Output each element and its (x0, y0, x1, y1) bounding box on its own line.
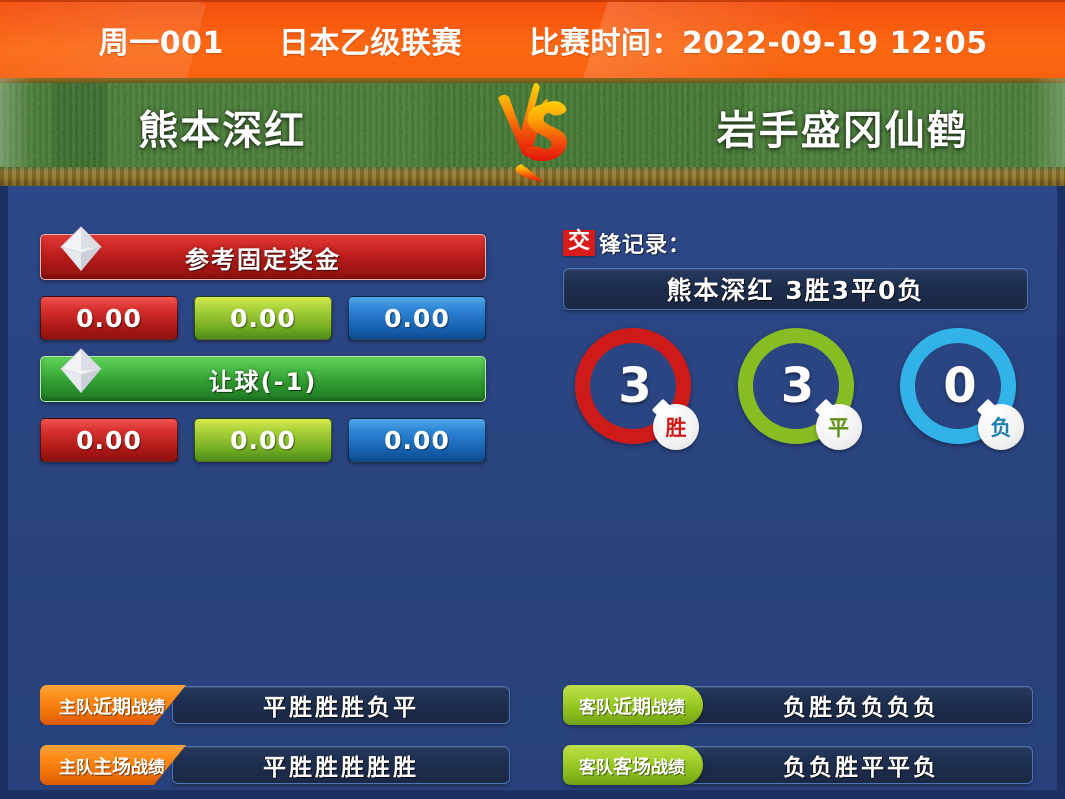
away-recent-tag-a: 客队 (579, 693, 613, 718)
handicap-odd-win[interactable]: 0.00 (40, 418, 178, 462)
home-home-tag-c: 战绩 (131, 753, 165, 778)
h2h-panel: 交 锋记录： 熊本深红 3胜3平0负 3 胜 3 (563, 228, 1028, 444)
odds-panel: 参考固定奖金 0.00 0.00 0.00 让球(-1) (40, 234, 486, 462)
h2h-summary: 熊本深红 3胜3平0负 (563, 268, 1028, 310)
pitch-banner: 熊本深红 岩手盛冈仙鹤 (0, 78, 1065, 186)
away-away-tag-c: 战绩 (651, 753, 685, 778)
fixed-prize-header: 参考固定奖金 (40, 234, 486, 280)
diamond-gem-icon (55, 223, 107, 275)
handicap-odds-row: 0.00 0.00 0.00 (40, 418, 486, 462)
away-away-form-text: 负负胜平平负 (783, 748, 939, 782)
handicap-label: 让球(-1) (209, 362, 318, 397)
league-name: 日本乙级联赛 (245, 18, 495, 62)
away-recent-tag-c: 战绩 (651, 693, 685, 718)
teams-row: 熊本深红 岩手盛冈仙鹤 (0, 78, 1065, 186)
home-recent-form-value: 平胜胜胜负平 (172, 686, 510, 724)
away-away-form-row: 客队 客场 战绩 负负胜平平负 (563, 744, 1033, 786)
kickoff-time: 比赛时间：2022-09-19 12:05 (529, 18, 987, 62)
handicap-odd-lose[interactable]: 0.00 (348, 418, 486, 462)
away-away-form-value: 负负胜平平负 (689, 746, 1033, 784)
h2h-ring-win: 3 胜 (575, 328, 691, 444)
h2h-title-rest: 锋记录： (599, 227, 691, 259)
fixed-odd-win[interactable]: 0.00 (40, 296, 178, 340)
h2h-ring-draw: 3 平 (738, 328, 854, 444)
home-home-tag-a: 主队 (59, 753, 93, 778)
h2h-lose-badge: 负 (978, 404, 1024, 450)
away-recent-form-text: 负胜负负负负 (783, 688, 939, 722)
vs-flame-icon (485, 78, 581, 186)
home-recent-tag-c: 战绩 (131, 693, 165, 718)
diamond-gem-icon (55, 345, 107, 397)
away-away-tag-b: 客场 (613, 752, 651, 779)
away-team-name: 岩手盛冈仙鹤 (581, 98, 1065, 166)
match-header-text: 周一001 日本乙级联赛 比赛时间：2022-09-19 12:05 (77, 18, 987, 62)
home-recent-form-text: 平胜胜胜负平 (263, 688, 419, 722)
h2h-win-badge-label: 胜 (666, 412, 687, 442)
away-away-form-tag: 客队 客场 战绩 (563, 745, 703, 785)
away-away-tag-a: 客队 (579, 753, 613, 778)
fixed-odds-row: 0.00 0.00 0.00 (40, 296, 486, 340)
home-home-tag-b: 主场 (93, 752, 131, 779)
match-sequence: 周一001 (77, 18, 245, 62)
h2h-rings: 3 胜 3 平 0 (563, 328, 1028, 444)
home-recent-form-row: 主队 近期 战绩 平胜胜胜负平 (40, 684, 510, 726)
fixed-odd-draw[interactable]: 0.00 (194, 296, 332, 340)
away-recent-form-tag: 客队 近期 战绩 (563, 685, 703, 725)
match-preview-card: 周一001 日本乙级联赛 比赛时间：2022-09-19 12:05 熊本深红 (0, 0, 1065, 799)
h2h-title: 交 锋记录： (563, 228, 1028, 258)
home-recent-tag-b: 近期 (93, 692, 131, 719)
fixed-odd-lose[interactable]: 0.00 (348, 296, 486, 340)
h2h-summary-text: 熊本深红 3胜3平0负 (667, 271, 925, 307)
home-team-name: 熊本深红 (0, 98, 485, 166)
away-form-block: 客队 近期 战绩 负胜负负负负 客队 客场 战绩 负负胜平平负 (563, 684, 1033, 786)
handicap-odd-draw[interactable]: 0.00 (194, 418, 332, 462)
home-home-form-row: 主队 主场 战绩 平胜胜胜胜胜 (40, 744, 510, 786)
h2h-lose-badge-label: 负 (991, 412, 1012, 442)
home-home-form-tag: 主队 主场 战绩 (40, 745, 186, 785)
h2h-draw-badge: 平 (816, 404, 862, 450)
away-recent-form-value: 负胜负负负负 (689, 686, 1033, 724)
home-home-form-text: 平胜胜胜胜胜 (263, 748, 419, 782)
h2h-draw-badge-label: 平 (828, 412, 849, 442)
card-body: 参考固定奖金 0.00 0.00 0.00 让球(-1) (0, 186, 1065, 799)
home-home-form-value: 平胜胜胜胜胜 (172, 746, 510, 784)
handicap-header: 让球(-1) (40, 356, 486, 402)
h2h-win-badge: 胜 (653, 404, 699, 450)
home-recent-tag-a: 主队 (59, 693, 93, 718)
away-recent-form-row: 客队 近期 战绩 负胜负负负负 (563, 684, 1033, 726)
home-form-block: 主队 近期 战绩 平胜胜胜负平 主队 主场 战绩 平胜胜胜胜胜 (40, 684, 510, 786)
fixed-prize-label: 参考固定奖金 (185, 240, 341, 275)
away-recent-tag-b: 近期 (613, 692, 651, 719)
h2h-ring-lose: 0 负 (900, 328, 1016, 444)
h2h-title-tag: 交 (563, 230, 595, 256)
home-recent-form-tag: 主队 近期 战绩 (40, 685, 186, 725)
match-header-bar: 周一001 日本乙级联赛 比赛时间：2022-09-19 12:05 (0, 0, 1065, 78)
